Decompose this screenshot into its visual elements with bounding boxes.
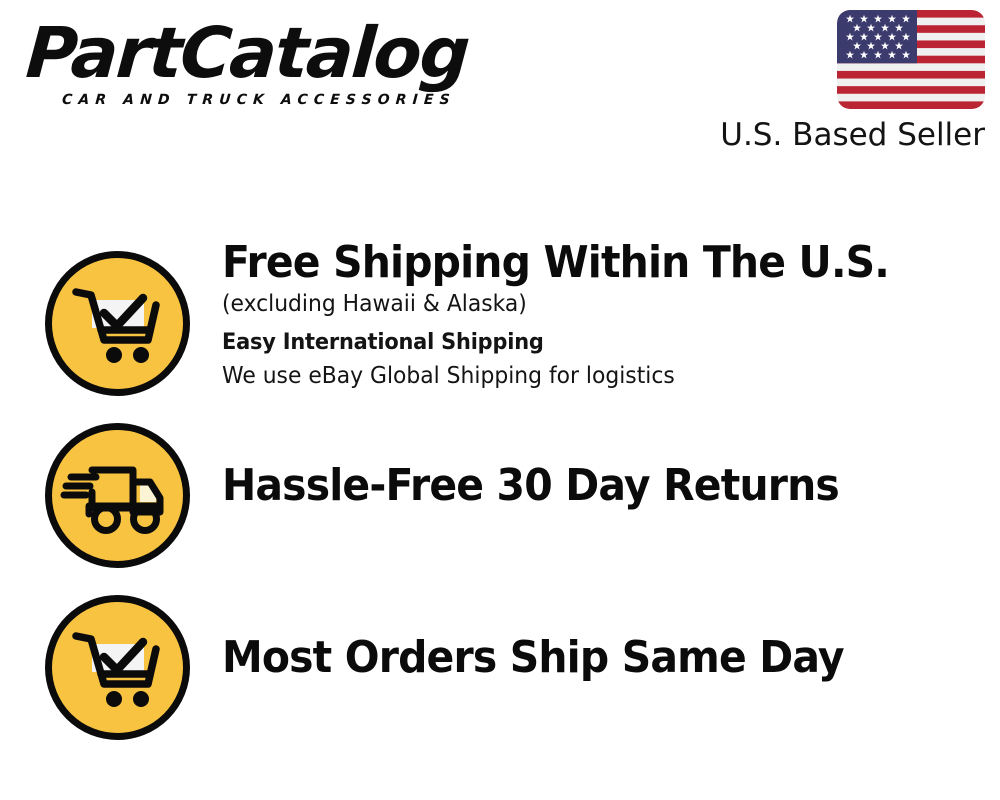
feature-text-returns: Hassle-Free 30 Day Returns [222, 400, 980, 572]
feature-text-same-day-ship: Most Orders Ship Same Day [222, 572, 980, 744]
feature-text-free-shipping: Free Shipping Within The U.S. (excluding… [222, 238, 980, 392]
us-based-seller-badge: U.S. Based Seller [715, 10, 985, 153]
banner-header: PartCatalog CAR AND TRUCK ACCESSORIES [0, 0, 1000, 175]
feature-list: Free Shipping Within The U.S. (excluding… [0, 228, 1000, 744]
feature-row-same-day-ship: Most Orders Ship Same Day [0, 572, 1000, 744]
delivery-truck-icon [44, 422, 191, 569]
us-flag-icon [837, 10, 985, 109]
feature-row-returns: Hassle-Free 30 Day Returns [0, 400, 1000, 572]
brand-logo: PartCatalog CAR AND TRUCK ACCESSORIES [24, 18, 494, 118]
shopping-cart-check-icon [44, 250, 191, 397]
feature-row-free-shipping: Free Shipping Within The U.S. (excluding… [0, 228, 1000, 400]
feature-subtitle-international: Easy International Shipping [222, 326, 942, 360]
shopping-cart-check-icon [44, 594, 191, 741]
feature-subtitle-logistics: We use eBay Global Shipping for logistic… [222, 360, 942, 392]
feature-title: Free Shipping Within The U.S. [222, 238, 927, 288]
brand-wordmark: PartCatalog [24, 18, 499, 88]
brand-tagline: CAR AND TRUCK ACCESSORIES [61, 92, 456, 108]
us-based-seller-label: U.S. Based Seller [715, 117, 985, 153]
feature-title: Most Orders Ship Same Day [222, 633, 927, 683]
feature-subtitle-exclusions: (excluding Hawaii & Alaska) [222, 288, 942, 320]
feature-title: Hassle-Free 30 Day Returns [222, 461, 927, 511]
